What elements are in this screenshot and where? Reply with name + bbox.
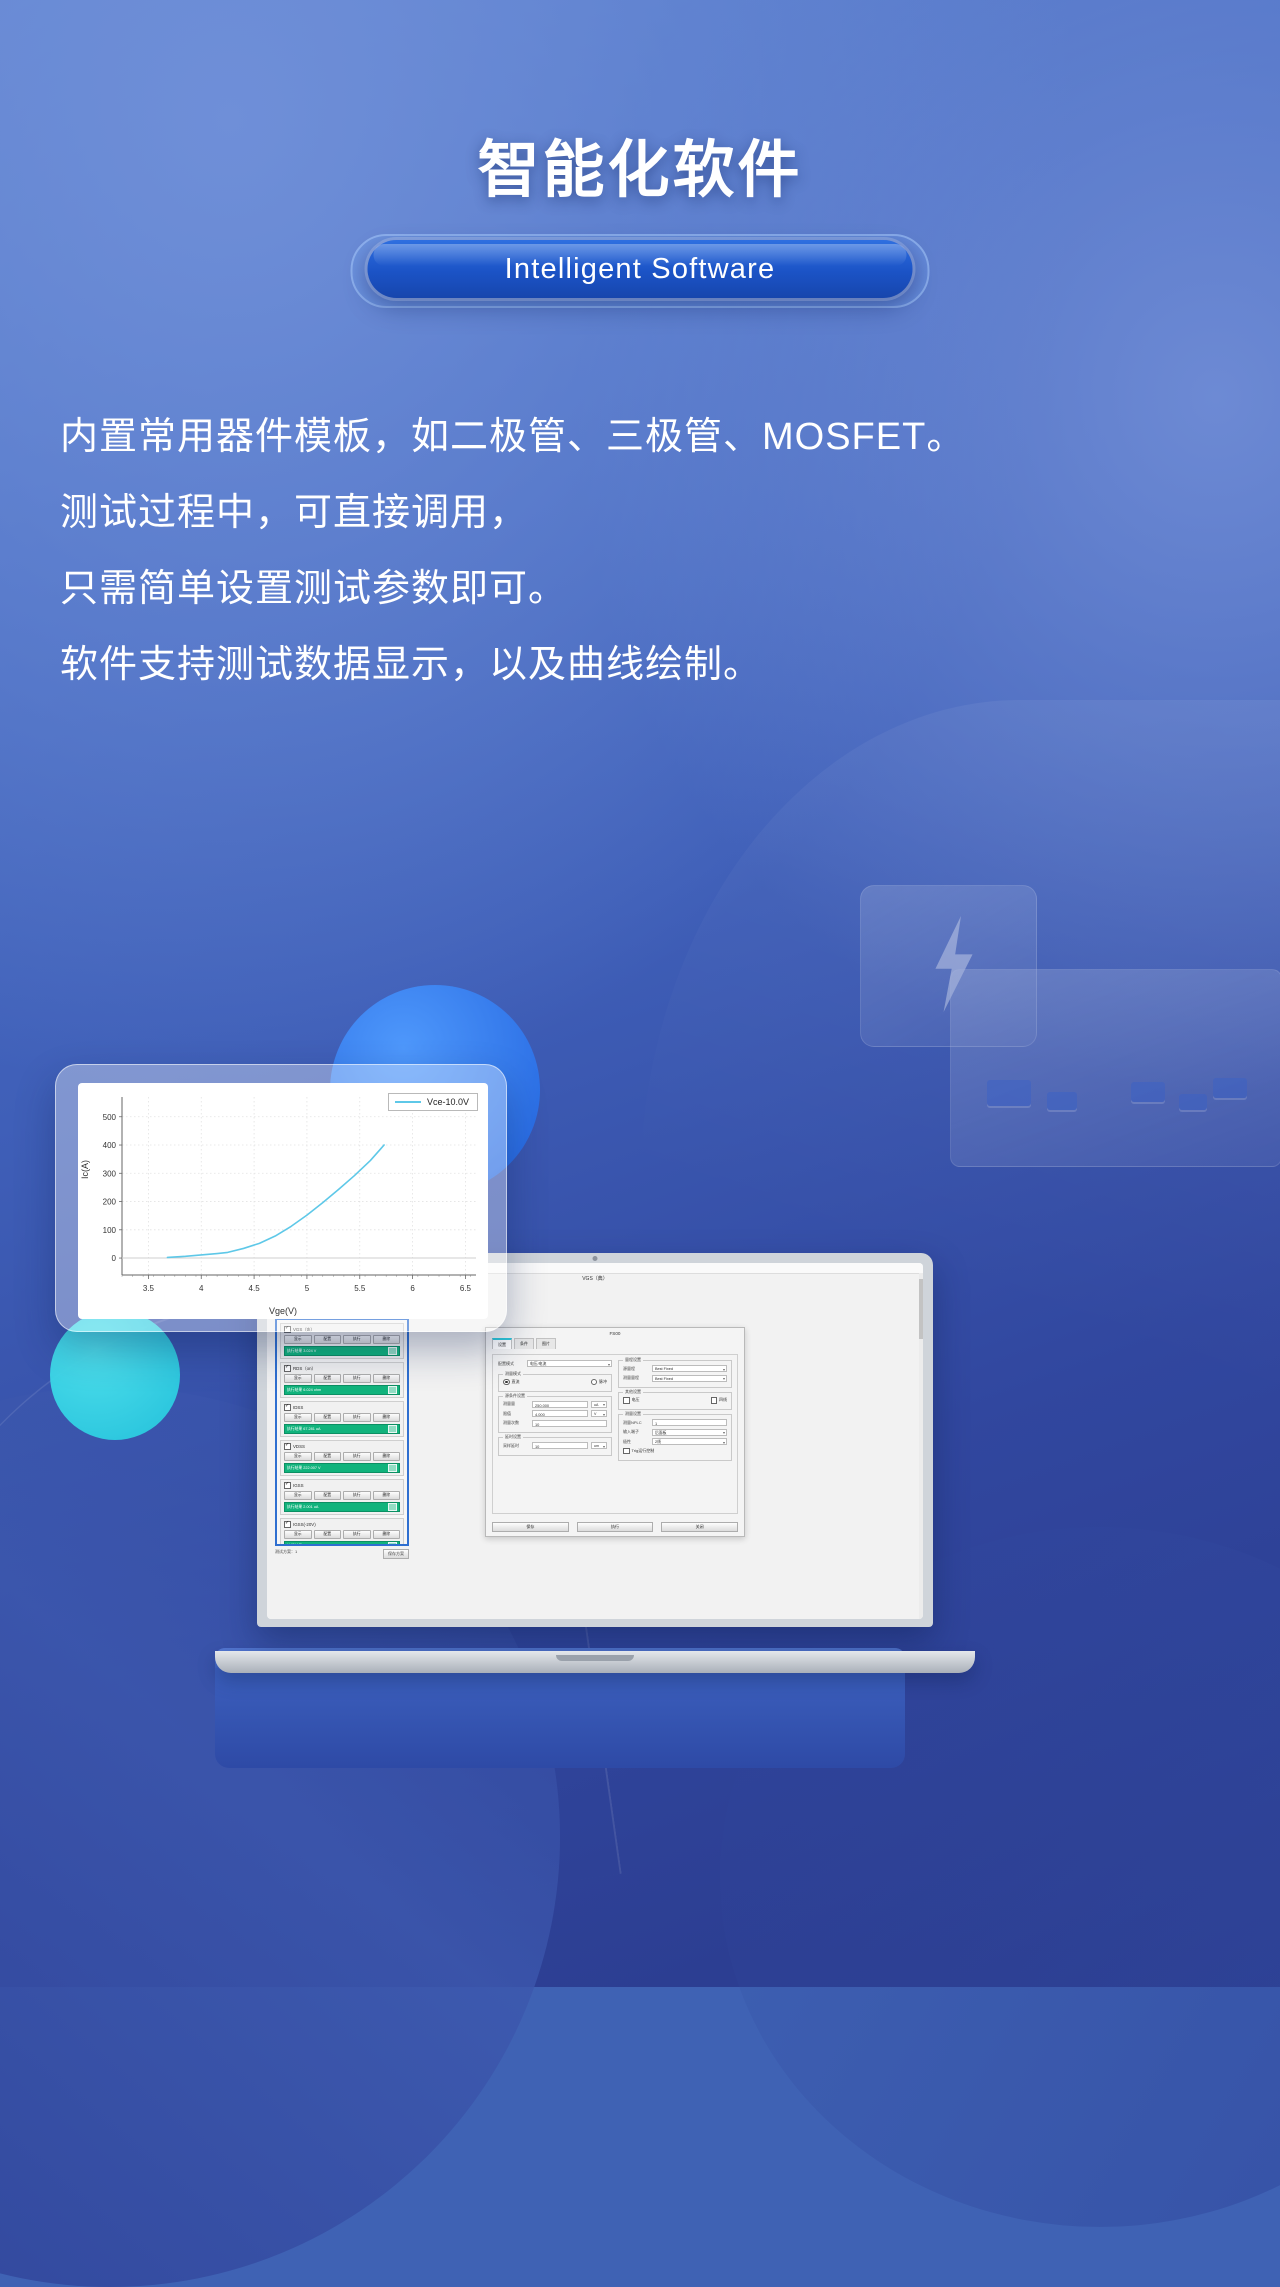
chip-illustration <box>850 885 1280 1205</box>
polarity-select[interactable]: 2线 <box>652 1438 727 1445</box>
item-button[interactable]: 配置 <box>314 1374 342 1383</box>
svg-text:5: 5 <box>305 1284 310 1293</box>
item-button-row: 显示配置执行删除 <box>284 1413 400 1422</box>
test-result-text: 执行结果 6.024 ohm <box>287 1388 321 1393</box>
radio-pulse[interactable]: 脉冲 <box>591 1379 608 1386</box>
checkbox-voltage[interactable]: 电压 <box>623 1397 640 1404</box>
test-item[interactable]: RDS（on） 显示配置执行删除 执行结果 6.024 ohm <box>280 1362 404 1398</box>
dialog-tab-image[interactable]: 图片 <box>536 1338 556 1349</box>
sample-delay-input[interactable]: 10 <box>532 1442 588 1449</box>
meas-row-label: 输入端子 <box>623 1429 649 1435</box>
radio-dc[interactable]: 直流 <box>503 1379 520 1386</box>
item-button-row: 显示配置执行删除 <box>284 1374 400 1383</box>
svg-text:6: 6 <box>410 1284 415 1293</box>
source-measure-input[interactable]: 250.000 <box>532 1401 588 1408</box>
source-settings-group: 源条件设置 测量量 250.000 uA 限值 4.000 V <box>498 1396 612 1434</box>
test-result-text: 执行结果 1.872 uA <box>287 1544 318 1547</box>
chart-panel: 01002003004005003.544.555.566.5 Ic(A) Vg… <box>78 1083 488 1319</box>
chart-icon[interactable] <box>388 1386 397 1394</box>
list-status: 测试方案：1 <box>275 1549 297 1559</box>
item-button[interactable]: 执行 <box>343 1452 371 1461</box>
measure-mode-legend: 测量模式 <box>503 1371 523 1377</box>
test-item-name: IDSS <box>293 1405 303 1410</box>
item-button[interactable]: 显示 <box>284 1491 312 1500</box>
svg-text:100: 100 <box>103 1226 117 1235</box>
chart-icon[interactable] <box>388 1347 397 1355</box>
input-terminal-select[interactable]: 后面板 <box>652 1429 727 1436</box>
chart-y-axis-label: Ic(A) <box>80 1160 90 1179</box>
config-mode-label: 配置模式 <box>498 1361 524 1367</box>
board-chip <box>987 1080 1031 1106</box>
page-header: 智能化软件 Intelligent Software <box>0 140 1280 202</box>
dialog-title: FS00 <box>486 1328 744 1338</box>
test-item[interactable]: IGSS 显示配置执行删除 执行结果 2.001 uA <box>280 1479 404 1515</box>
checkbox-icon <box>623 1397 630 1404</box>
source-measure-unit[interactable]: uA <box>591 1401 607 1408</box>
item-button[interactable]: 删除 <box>373 1374 401 1383</box>
legend-label: Vce-10.0V <box>427 1097 469 1107</box>
test-item[interactable]: IDSS 显示配置执行删除 执行结果 67.281 uA <box>280 1401 404 1437</box>
board-chip <box>1213 1078 1247 1098</box>
checkbox-fourwire[interactable]: 四线 <box>711 1397 728 1404</box>
checkbox-icon <box>623 1448 630 1455</box>
svg-text:4: 4 <box>199 1284 204 1293</box>
item-button-row: 显示配置执行删除 <box>284 1491 400 1500</box>
source-count-input[interactable]: 10 <box>532 1420 607 1427</box>
item-button[interactable]: 删除 <box>373 1530 401 1539</box>
dialog-footer: 保存 执行 关闭 <box>492 1522 738 1532</box>
webcam-icon <box>593 1256 598 1261</box>
timing-settings-legend: 延时设置 <box>503 1434 523 1440</box>
meas-row-label: 极性 <box>623 1439 649 1445</box>
checkbox-icon[interactable] <box>284 1443 291 1450</box>
copy-line-3: 只需简单设置测试参数即可。 <box>60 570 1200 610</box>
test-result-bar: 执行结果 6.024 ohm <box>284 1385 400 1395</box>
test-result-text: 执行结果 2.001 uA <box>287 1505 318 1510</box>
list-footer: 测试方案：1 保存方案 <box>275 1549 409 1559</box>
config-mode-select[interactable]: 电压/电流 <box>527 1360 612 1367</box>
source-limit-unit[interactable]: V <box>591 1410 607 1417</box>
radio-dot-icon <box>591 1379 598 1386</box>
item-button[interactable]: 执行 <box>343 1335 371 1344</box>
checkbox-voltage-label: 电压 <box>632 1397 640 1403</box>
checkbox-trig-control[interactable]: Trig运行控制 <box>623 1448 654 1455</box>
chart-icon[interactable] <box>388 1542 397 1546</box>
test-result-bar: 执行结果 1.872 uA <box>284 1541 400 1546</box>
item-button[interactable]: 显示 <box>284 1374 312 1383</box>
page-title: 智能化软件 <box>0 140 1280 202</box>
test-result-text: 执行结果 67.281 uA <box>287 1427 321 1432</box>
source-range-select[interactable]: Best Fixed <box>652 1365 727 1372</box>
chart-x-axis-label: Vge(V) <box>78 1306 488 1316</box>
item-button[interactable]: 配置 <box>314 1335 342 1344</box>
dialog-save-button[interactable]: 保存 <box>492 1522 569 1532</box>
svg-text:4.5: 4.5 <box>249 1284 261 1293</box>
checkbox-fourwire-label: 四线 <box>719 1397 727 1403</box>
measure-settings-group: 测量设置 测量NPLC 1 输入端子 后面板 极性 <box>618 1414 732 1461</box>
test-item-name: RDS（on） <box>293 1366 316 1372</box>
test-result-text: 执行结果 3.024 V <box>287 1349 316 1354</box>
measure-mode-group: 测量模式 直流 脉冲 <box>498 1374 612 1392</box>
board-chip <box>1179 1094 1207 1110</box>
dialog-run-button[interactable]: 执行 <box>577 1522 654 1532</box>
checkbox-icon[interactable] <box>284 1521 291 1528</box>
chart-icon[interactable] <box>388 1464 397 1472</box>
save-plan-button[interactable]: 保存方案 <box>383 1549 409 1559</box>
item-button-row: 显示配置执行删除 <box>284 1452 400 1461</box>
config-dialog: FS00 设置 条件 图片 配置模式 电压/电流 <box>485 1327 745 1537</box>
measure-settings-legend: 测量设置 <box>623 1411 643 1417</box>
body-copy: 内置常用器件模板，如二极管、三极管、MOSFET。 测试过程中，可直接调用， 只… <box>60 418 1200 722</box>
meas-row-label: 测量NPLC <box>623 1420 649 1426</box>
dialog-tabs: 设置 条件 图片 <box>486 1338 744 1349</box>
timing-settings-group: 延时设置 采样延时 10 um <box>498 1437 612 1456</box>
test-item-name: VDSS <box>293 1444 305 1449</box>
test-item[interactable]: VDSS 显示配置执行删除 执行结果 222.007 V <box>280 1440 404 1476</box>
iv-curve-chart: 01002003004005003.544.555.566.5 <box>78 1083 488 1319</box>
measure-range-select[interactable]: Best Fixed <box>652 1375 727 1382</box>
copy-line-4: 软件支持测试数据显示，以及曲线绘制。 <box>60 646 1200 686</box>
source-row-label: 限值 <box>503 1411 529 1417</box>
test-item-header: IDSS <box>284 1404 400 1411</box>
copy-line-2: 测试过程中，可直接调用， <box>60 494 1200 534</box>
checkbox-trig-label: Trig运行控制 <box>632 1448 655 1454</box>
board-chip <box>1047 1092 1077 1110</box>
checkbox-icon[interactable] <box>284 1482 291 1489</box>
item-button[interactable]: 显示 <box>284 1452 312 1461</box>
svg-text:0: 0 <box>112 1254 117 1263</box>
svg-text:5.5: 5.5 <box>354 1284 366 1293</box>
copy-line-1: 内置常用器件模板，如二极管、三极管、MOSFET。 <box>60 418 1200 458</box>
checkbox-icon <box>711 1397 718 1404</box>
test-item[interactable]: IGSS(-20V) 显示配置执行删除 执行结果 1.872 uA <box>280 1518 404 1546</box>
page-subtitle: Intelligent Software <box>0 252 1280 286</box>
circuit-board <box>950 969 1280 1167</box>
svg-text:300: 300 <box>103 1169 117 1178</box>
range-settings-group: 量程设置 源量程 Best Fixed 测量量程 Best Fixed <box>618 1360 732 1388</box>
nplc-input[interactable]: 1 <box>652 1419 727 1426</box>
range-row-label: 测量量程 <box>623 1375 649 1381</box>
chart-legend: Vce-10.0V <box>388 1093 478 1111</box>
item-button[interactable]: 显示 <box>284 1530 312 1539</box>
test-result-bar: 执行结果 67.281 uA <box>284 1424 400 1434</box>
test-item-name: IGSS(-20V) <box>293 1522 316 1527</box>
dialog-tab-settings[interactable]: 设置 <box>492 1338 512 1349</box>
checkbox-icon[interactable] <box>284 1404 291 1411</box>
dialog-right-column: 量程设置 源量程 Best Fixed 测量量程 Best Fixed <box>618 1360 732 1508</box>
radio-pulse-label: 脉冲 <box>599 1379 607 1385</box>
checkbox-icon[interactable] <box>284 1365 291 1372</box>
svg-text:6.5: 6.5 <box>460 1284 472 1293</box>
laptop-notch <box>556 1655 634 1661</box>
test-result-bar: 执行结果 3.024 V <box>284 1346 400 1356</box>
dialog-left-column: 配置模式 电压/电流 测量模式 直流 脉冲 <box>498 1360 612 1508</box>
chart-card: 01002003004005003.544.555.566.5 Ic(A) Vg… <box>55 1064 507 1332</box>
item-button-row: 显示配置执行删除 <box>284 1530 400 1539</box>
dialog-body: 配置模式 电压/电流 测量模式 直流 脉冲 <box>492 1354 738 1514</box>
legend-line-icon <box>395 1101 421 1103</box>
radio-dot-icon <box>503 1379 510 1386</box>
timing-row-label: 采样延时 <box>503 1443 529 1449</box>
item-button[interactable]: 删除 <box>373 1491 401 1500</box>
other-settings-group: 其他设置 电压 四线 <box>618 1392 732 1410</box>
dialog-tab-conditions[interactable]: 条件 <box>514 1338 534 1349</box>
test-item-header: VDSS <box>284 1443 400 1450</box>
item-button[interactable]: 显示 <box>284 1413 312 1422</box>
svg-text:400: 400 <box>103 1141 117 1150</box>
item-button[interactable]: 配置 <box>314 1452 342 1461</box>
chart-icon[interactable] <box>388 1425 397 1433</box>
item-button[interactable]: 配置 <box>314 1413 342 1422</box>
svg-text:500: 500 <box>103 1113 117 1122</box>
test-item-header: IGSS(-20V) <box>284 1521 400 1528</box>
source-limit-input[interactable]: 4.000 <box>532 1410 588 1417</box>
test-item-header: IGSS <box>284 1482 400 1489</box>
source-row-label: 测量量 <box>503 1401 529 1407</box>
item-button[interactable]: 显示 <box>284 1335 312 1344</box>
app-scrollbar[interactable] <box>919 1273 923 1619</box>
sample-delay-unit[interactable]: um <box>591 1442 607 1449</box>
source-settings-legend: 源条件设置 <box>503 1393 527 1399</box>
item-button[interactable]: 配置 <box>314 1491 342 1500</box>
dialog-close-button[interactable]: 关闭 <box>661 1522 738 1532</box>
source-row-label: 测量次数 <box>503 1420 529 1426</box>
test-result-bar: 执行结果 222.007 V <box>284 1463 400 1473</box>
test-item-header: RDS（on） <box>284 1365 400 1372</box>
radio-dc-label: 直流 <box>512 1379 520 1385</box>
item-button[interactable]: 配置 <box>314 1530 342 1539</box>
svg-text:3.5: 3.5 <box>143 1284 155 1293</box>
item-button[interactable]: 删除 <box>373 1335 401 1344</box>
item-button[interactable]: 执行 <box>343 1491 371 1500</box>
test-item-list[interactable]: VGS（th） 显示配置执行删除 执行结果 3.024 V RDS（on） 显示… <box>275 1318 409 1546</box>
item-button[interactable]: 执行 <box>343 1413 371 1422</box>
laptop-base <box>215 1651 975 1673</box>
range-settings-legend: 量程设置 <box>623 1357 643 1363</box>
scrollbar-thumb[interactable] <box>919 1279 923 1339</box>
item-button[interactable]: 执行 <box>343 1530 371 1539</box>
test-item-name: IGSS <box>293 1483 304 1488</box>
chart-icon[interactable] <box>388 1503 397 1511</box>
item-button-row: 显示配置执行删除 <box>284 1335 400 1344</box>
test-result-bar: 执行结果 2.001 uA <box>284 1502 400 1512</box>
range-row-label: 源量程 <box>623 1366 649 1372</box>
other-settings-legend: 其他设置 <box>623 1389 643 1395</box>
board-chip <box>1131 1082 1165 1102</box>
item-button[interactable]: 删除 <box>373 1452 401 1461</box>
svg-text:200: 200 <box>103 1198 117 1207</box>
item-button[interactable]: 删除 <box>373 1413 401 1422</box>
item-button[interactable]: 执行 <box>343 1374 371 1383</box>
test-result-text: 执行结果 222.007 V <box>287 1466 321 1471</box>
